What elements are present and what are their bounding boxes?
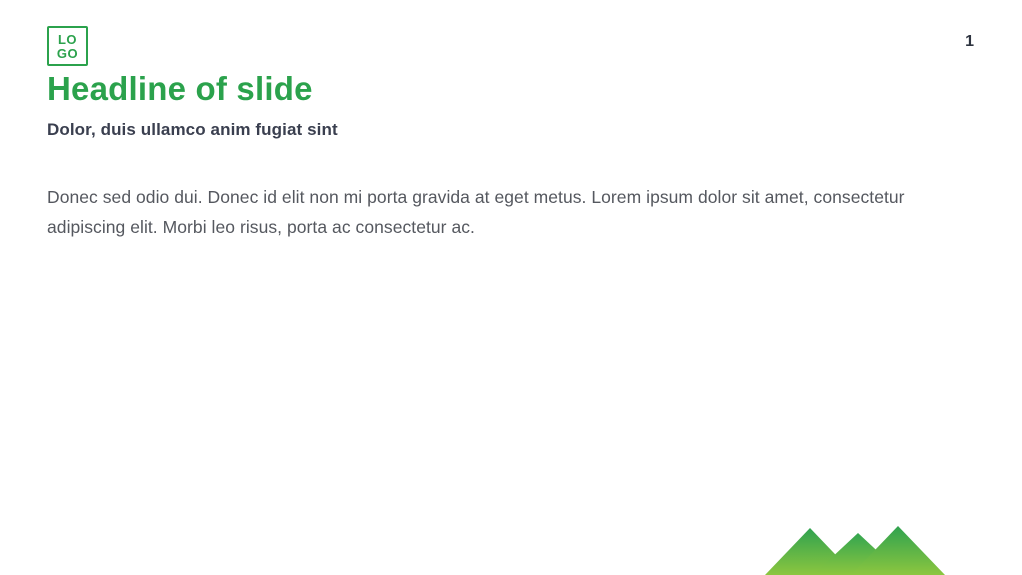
- logo-mark: LO GO: [47, 26, 88, 66]
- slide-headline: Headline of slide: [47, 70, 313, 108]
- logo-text-line-1: LO: [58, 33, 77, 46]
- slide-subheadline: Dolor, duis ullamco anim fugiat sint: [47, 120, 338, 140]
- slide-body-text: Donec sed odio dui. Donec id elit non mi…: [47, 182, 959, 242]
- mountain-graphic-icon: [765, 523, 950, 575]
- logo-text-line-2: GO: [57, 47, 78, 60]
- page-number: 1: [965, 33, 974, 51]
- slide-canvas: LO GO 1 Headline of slide Dolor, duis ul…: [0, 0, 1022, 575]
